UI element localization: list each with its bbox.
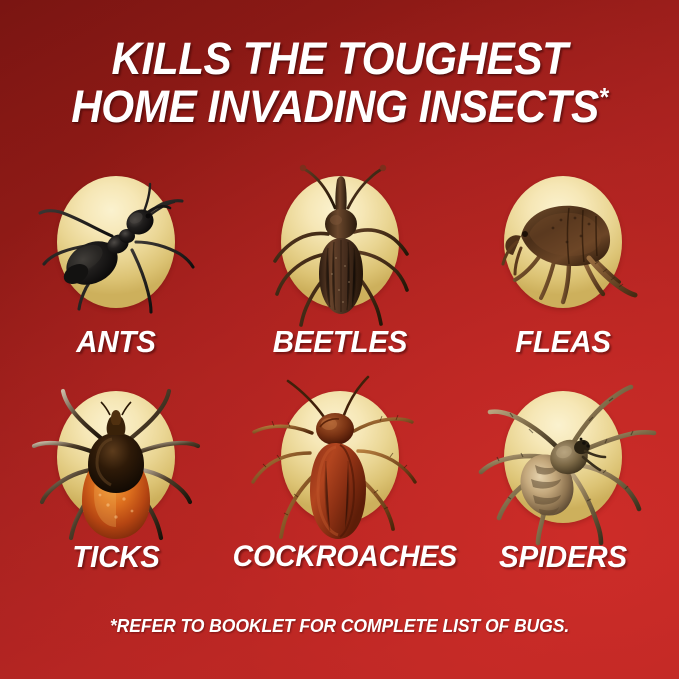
pest-grid-row: ANTS <box>0 176 679 391</box>
tick-icon <box>16 377 216 543</box>
page-title: KILLS THE TOUGHEST HOME INVADING INSECTS… <box>20 36 658 129</box>
pest-label: FLEAS <box>456 326 671 357</box>
asterisk-marker: * <box>599 82 608 112</box>
ant-icon <box>16 162 216 328</box>
headline-line-2: HOME INVADING INSECTS <box>71 81 599 132</box>
pest-cell-ants[interactable]: ANTS <box>3 176 229 391</box>
pest-label: BEETLES <box>233 326 448 357</box>
headline-line-1: KILLS THE TOUGHEST <box>111 33 567 84</box>
pest-cell-fleas[interactable]: FLEAS <box>450 176 676 391</box>
pest-label: ANTS <box>9 326 224 357</box>
pest-label: SPIDERS <box>456 541 671 572</box>
cockroach-icon <box>240 377 440 543</box>
pest-grid: ANTS <box>0 176 679 606</box>
spider-icon <box>463 377 663 543</box>
beetle-icon <box>240 162 440 328</box>
pest-label: COCKROACHES <box>233 541 448 572</box>
footnote-text: *REFER TO BOOKLET FOR COMPLETE LIST OF B… <box>17 616 662 636</box>
pest-cell-ticks[interactable]: TICKS <box>3 391 229 606</box>
flea-icon <box>463 162 663 328</box>
promo-banner: KILLS THE TOUGHEST HOME INVADING INSECTS… <box>0 0 679 679</box>
pest-grid-row: TICKS <box>0 391 679 606</box>
pest-cell-cockroaches[interactable]: COCKROACHES <box>227 391 453 606</box>
pest-cell-spiders[interactable]: SPIDERS <box>450 391 676 606</box>
pest-label: TICKS <box>9 541 224 572</box>
pest-cell-beetles[interactable]: BEETLES <box>227 176 453 391</box>
